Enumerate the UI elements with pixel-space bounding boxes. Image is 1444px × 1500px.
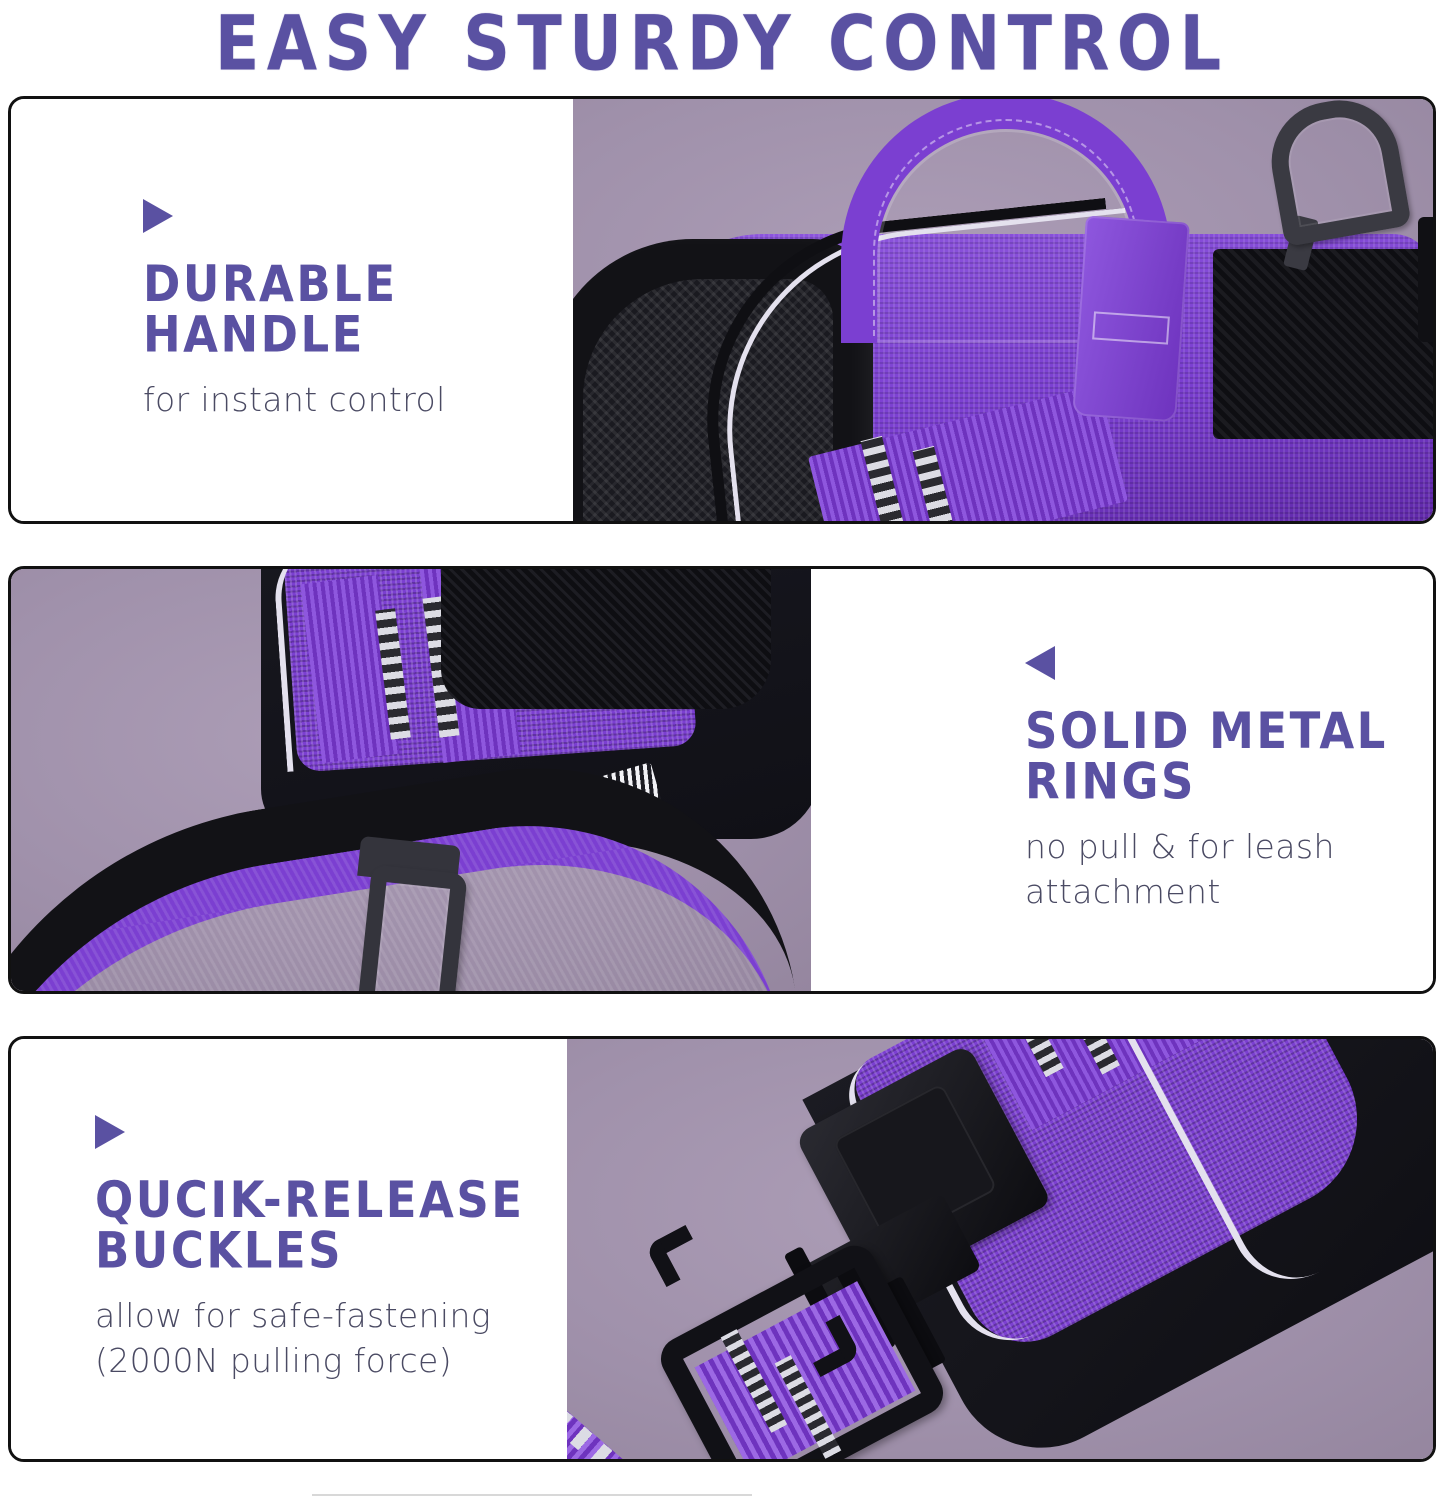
bottom-divider (312, 1494, 752, 1496)
triangle-left-icon (1025, 646, 1055, 680)
panel-1-subtitle: for instant control (143, 377, 573, 422)
panel-2-photo (11, 569, 811, 991)
panel-2-heading: SOLID METAL RINGS (1025, 706, 1433, 807)
panel-3-text-pane: QUCIK-RELEASE BUCKLES allow for safe-fas… (11, 1039, 567, 1459)
quick-release-buckle-illustration (567, 1039, 1433, 1459)
triangle-right-icon (143, 199, 173, 233)
page-title: EASY STURDY CONTROL (215, 0, 1229, 88)
infographic-page: EASY STURDY CONTROL DURABLE HANDLE for i… (0, 0, 1444, 1500)
banner-header: EASY STURDY CONTROL (0, 0, 1444, 86)
panel-3-photo (567, 1039, 1433, 1459)
triangle-right-icon (95, 1115, 125, 1149)
harness-handle-illustration (573, 99, 1433, 521)
panel-3-heading: QUCIK-RELEASE BUCKLES (95, 1175, 567, 1276)
panel-2-text-pane: SOLID METAL RINGS no pull & for leash at… (811, 569, 1433, 991)
metal-ring-illustration (11, 569, 811, 991)
panel-3-subtitle: allow for safe-fastening (2000N pulling … (95, 1293, 567, 1383)
feature-panel-solid-metal-rings: SOLID METAL RINGS no pull & for leash at… (8, 566, 1436, 994)
feature-panel-durable-handle: DURABLE HANDLE for instant control (8, 96, 1436, 524)
panel-1-photo (573, 99, 1433, 521)
panel-1-text-pane: DURABLE HANDLE for instant control (11, 99, 573, 521)
feature-panel-quick-release-buckles: QUCIK-RELEASE BUCKLES allow for safe-fas… (8, 1036, 1436, 1462)
panel-1-heading: DURABLE HANDLE (143, 259, 573, 360)
panel-2-subtitle: no pull & for leash attachment (1025, 824, 1433, 914)
